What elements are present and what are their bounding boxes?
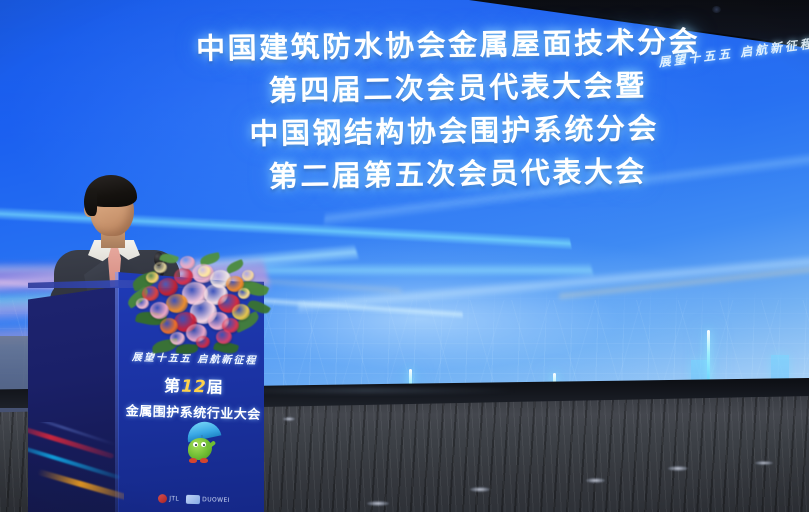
floor-reflection-6 <box>283 417 295 421</box>
flower-bloom <box>150 302 169 319</box>
sponsor-mark-2-icon <box>186 494 200 503</box>
mascot-foot-left <box>189 458 197 463</box>
flower-bloom <box>166 294 188 313</box>
flower-bloom <box>238 288 250 299</box>
headline-line-4: 第二届第五次会员代表大会 <box>175 149 742 200</box>
flower-bloom <box>196 336 210 348</box>
flower-bloom <box>136 298 149 309</box>
floor-reflection-2 <box>470 487 490 492</box>
light-bar-3 <box>707 330 710 382</box>
flower-bloom <box>198 266 211 277</box>
conference-stage-photo: 中国建筑防水协会金属屋面技术分会 第四届二次会员代表大会暨 中国钢结构协会围护系… <box>0 0 809 512</box>
podium-sponsor-logos: JTL DUOWEI <box>124 488 264 510</box>
podium-edition-suffix: 届 <box>207 377 225 396</box>
headline-line-3: 中国钢结构协会围护系统分会 <box>168 106 741 157</box>
sponsor-logo-1: JTL <box>158 494 179 504</box>
speaker-sideburn <box>84 188 97 216</box>
podium-edition: 第12届 <box>124 371 265 399</box>
flower-bloom <box>232 304 250 320</box>
sponsor-name-1: JTL <box>169 495 179 502</box>
headline-line-1: 中国建筑防水协会金属屋面技术分会 <box>157 20 740 71</box>
podium-conference-title: 金属围护系统行业大会 <box>123 400 263 423</box>
podium-edition-prefix: 第 <box>164 376 182 395</box>
flower-bloom <box>216 330 232 344</box>
ceiling-light-fixture <box>712 6 721 13</box>
podium-text-block: 展望十五五 启航新征程 第12届 金属围护系统行业大会 <box>123 348 265 423</box>
podium-edition-number: 12 <box>181 377 207 398</box>
flower-bloom <box>154 262 167 273</box>
flower-bloom <box>242 270 254 281</box>
floor-reflection-1 <box>367 501 389 506</box>
flower-bloom <box>170 332 185 345</box>
mascot-pupil-right <box>203 444 205 446</box>
floor-reflection-5 <box>755 461 773 465</box>
mascot-foot-right <box>200 458 208 463</box>
mascot-icon <box>178 422 222 466</box>
podium-ribbon-stripes <box>28 422 124 512</box>
mascot-pupil-left <box>195 444 197 446</box>
floral-arrangement <box>130 254 262 350</box>
screen-headline: 中国建筑防水协会金属屋面技术分会 第四届二次会员代表大会暨 中国钢结构协会围护系… <box>169 20 741 200</box>
flower-bloom <box>146 272 159 283</box>
floor-reflection-3 <box>586 478 605 483</box>
cyan-panel-2 <box>771 355 789 381</box>
sponsor-mark-1-icon <box>158 494 167 503</box>
sponsor-logo-2: DUOWEI <box>186 494 230 504</box>
floor-reflection-4 <box>668 466 688 471</box>
flower-bloom <box>180 256 195 269</box>
sponsor-name-2: DUOWEI <box>202 496 230 504</box>
